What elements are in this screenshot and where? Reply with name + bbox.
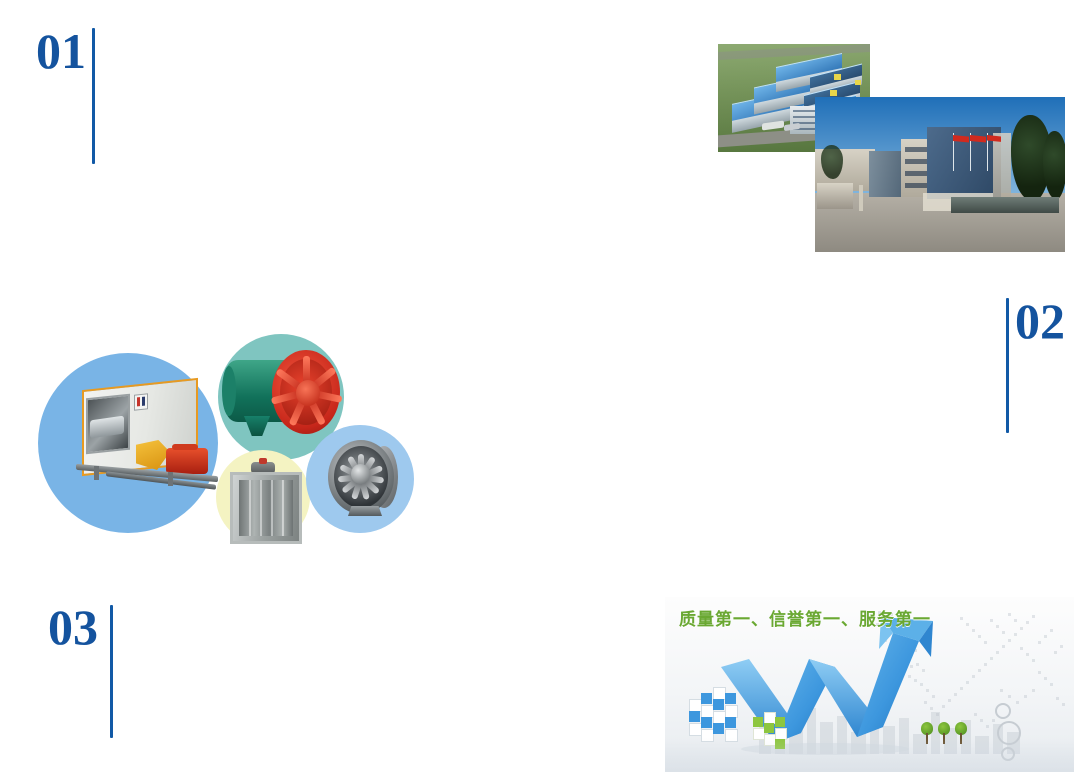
section-number-03: 03 — [48, 602, 98, 652]
section-rule-02 — [1006, 298, 1009, 433]
section-number-01: 01 — [36, 26, 86, 76]
damper-slat — [249, 480, 251, 536]
damper-frame — [230, 472, 302, 544]
banner-slogan: 质量第一、信誉第一、服务第一 — [679, 605, 931, 630]
axial-fan-foot — [244, 416, 270, 436]
photo-tree — [1043, 131, 1065, 199]
blue-cube-graphic — [689, 685, 745, 737]
factory-marker — [834, 74, 841, 80]
product-fire-damper-image — [230, 462, 296, 538]
cabinet-leg — [168, 472, 173, 486]
factory-marker — [830, 90, 837, 96]
cabinet-motor — [166, 448, 208, 474]
office-building-photo — [815, 97, 1065, 252]
damper-slat — [271, 480, 273, 536]
cabinet-control-panel — [134, 393, 148, 410]
axial-fan-ring — [272, 350, 340, 434]
banner-reflection — [665, 738, 1074, 772]
product-axial-fan-image — [226, 344, 342, 452]
damper-slat — [260, 480, 262, 536]
photo-facade-edge — [993, 133, 1011, 199]
cabinet-leg — [94, 466, 99, 480]
photo-gatehouse — [817, 183, 853, 209]
product-cabinet-fan-image — [64, 366, 222, 501]
photo-hedge — [951, 197, 1059, 213]
page-canvas: 01 — [0, 0, 1074, 772]
axial-fan-hub — [296, 380, 320, 406]
section-rule-03 — [110, 605, 113, 738]
silver-fan-base — [348, 506, 382, 516]
factory-marker — [855, 80, 861, 85]
damper-slat — [282, 480, 284, 536]
section-number-02: 02 — [1015, 296, 1065, 346]
photo-tree — [821, 145, 843, 179]
photo-gate-post — [859, 185, 863, 211]
decorative-circle — [995, 703, 1011, 719]
silver-fan-hub — [351, 464, 370, 484]
product-silver-fan-image — [318, 438, 404, 520]
damper-blades — [239, 480, 293, 536]
section-rule-01 — [92, 28, 95, 164]
growth-banner-image: 质量第一、信誉第一、服务第一 — [665, 597, 1074, 772]
